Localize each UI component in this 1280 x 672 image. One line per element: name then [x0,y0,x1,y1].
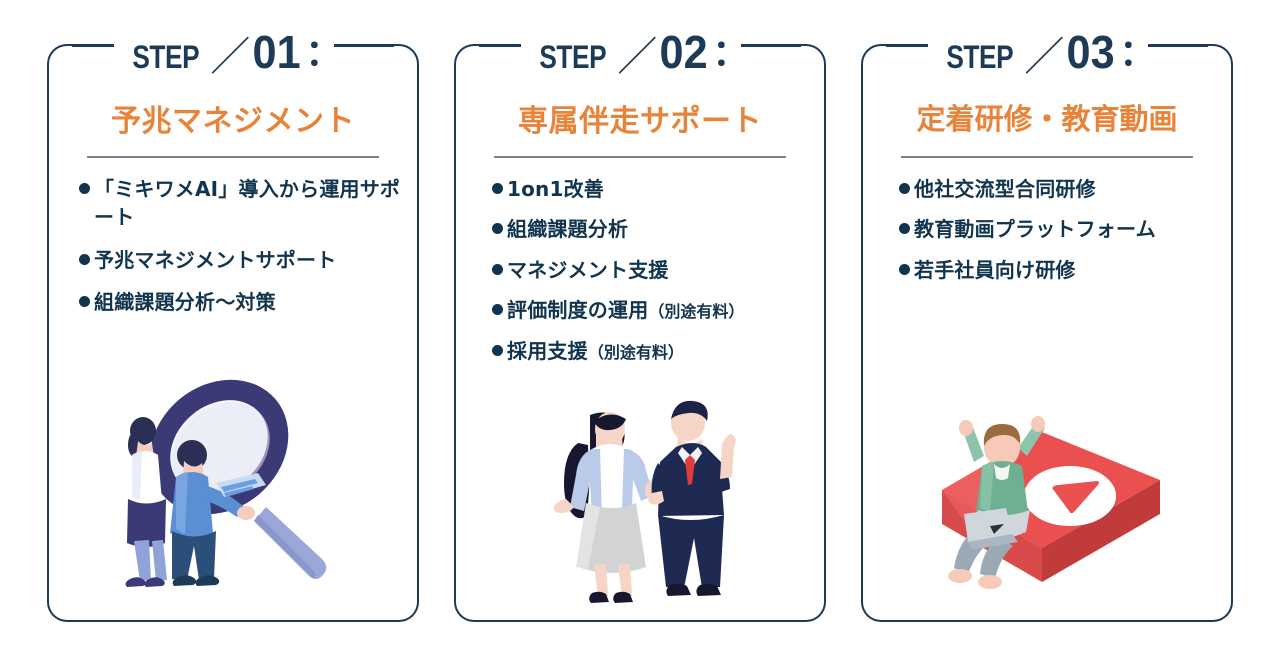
bullet-dot-icon [79,254,90,265]
title-divider [901,156,1193,158]
list-item: 評価制度の運用（別途有料） [492,296,808,324]
feature-list-3: 他社交流型合同研修 教育動画プラットフォーム 若手社員向け研修 [899,175,1215,296]
step-card-1: STEP ／ 01 ： 予兆マネジメント 「ミキワメAI」導入から運用サポート … [47,44,419,622]
list-item: 「ミキワメAI」導入から運用サポート [79,175,401,232]
list-item-label: 1on1改善 [507,175,604,203]
step-word-label: STEP [539,39,606,76]
list-item-note: （別途有料） [648,302,744,321]
man-figure [648,401,735,596]
list-item-label: 「ミキワメAI」導入から運用サポート [94,175,401,232]
magnifier-handle-icon [254,507,326,579]
bullet-dot-icon [492,183,503,194]
bullet-dot-icon [899,264,910,275]
list-item-label: 予兆マネジメントサポート [94,246,336,274]
step-colon: ： [305,24,341,76]
list-item-label: マネジメント支援 [507,256,669,284]
step-colon: ： [1119,24,1155,76]
two-business-people-illustration [454,354,826,604]
step-header-3: STEP ／ 03 ： [861,22,1233,80]
bullet-dot-icon [492,223,503,234]
step-number-label: 02 [660,25,708,79]
card-frame-bottom [479,620,801,623]
list-item: 他社交流型合同研修 [899,175,1215,203]
bullet-dot-icon [79,296,90,307]
video-play-button-person-illustration [861,354,1233,604]
woman-figure [554,412,661,603]
step-card-3: STEP ／ 03 ： 定着研修・教育動画 他社交流型合同研修 教育動画プラット… [861,44,1233,622]
step-title-3: 定着研修・教育動画 [861,96,1233,138]
step-card-2: STEP ／ 02 ： 専属伴走サポート 1on1改善 組織課題分析 マネジメン… [454,44,826,622]
card-frame-bottom [72,620,394,623]
list-item-label: 組織課題分析 [507,215,628,243]
list-item-label: 他社交流型合同研修 [914,175,1096,203]
list-item: 教育動画プラットフォーム [899,215,1215,243]
bullet-dot-icon [492,304,503,315]
step-title-1: 予兆マネジメント [47,96,419,140]
card-frame-bottom [886,620,1208,623]
step-slash-separator: ／ [1024,24,1064,82]
step-title-2: 専属伴走サポート [454,96,826,140]
step-slash-separator: ／ [210,24,250,82]
feature-list-2: 1on1改善 組織課題分析 マネジメント支援 評価制度の運用（別途有料） 採用支… [492,175,808,377]
step-number-label: 03 [1067,25,1115,79]
step-word-label: STEP [946,39,1013,76]
bullet-dot-icon [899,183,910,194]
title-divider [494,156,786,158]
list-item: 1on1改善 [492,175,808,203]
list-item-label: 評価制度の運用（別途有料） [507,296,744,324]
step-header-1: STEP ／ 01 ： [47,22,419,80]
step-word-label: STEP [132,39,199,76]
bullet-dot-icon [79,183,90,194]
bullet-dot-icon [899,223,910,234]
step-slash-separator: ／ [617,24,657,82]
step-header-2: STEP ／ 02 ： [454,22,826,80]
magnifying-glass-people-illustration [47,354,419,604]
feature-list-1: 「ミキワメAI」導入から運用サポート 予兆マネジメントサポート 組織課題分析〜対… [79,175,401,331]
list-item-label: 若手社員向け研修 [914,256,1076,284]
title-divider [87,156,379,158]
bullet-dot-icon [492,264,503,275]
list-item: 若手社員向け研修 [899,256,1215,284]
list-item: 組織課題分析 [492,215,808,243]
list-item: 組織課題分析〜対策 [79,288,401,316]
list-item: マネジメント支援 [492,256,808,284]
list-item-label: 教育動画プラットフォーム [914,215,1156,243]
step-colon: ： [712,24,748,76]
list-item: 予兆マネジメントサポート [79,246,401,274]
list-item-label: 組織課題分析〜対策 [94,288,276,316]
steps-board: STEP ／ 01 ： 予兆マネジメント 「ミキワメAI」導入から運用サポート … [0,0,1280,672]
step-number-label: 01 [253,25,301,79]
